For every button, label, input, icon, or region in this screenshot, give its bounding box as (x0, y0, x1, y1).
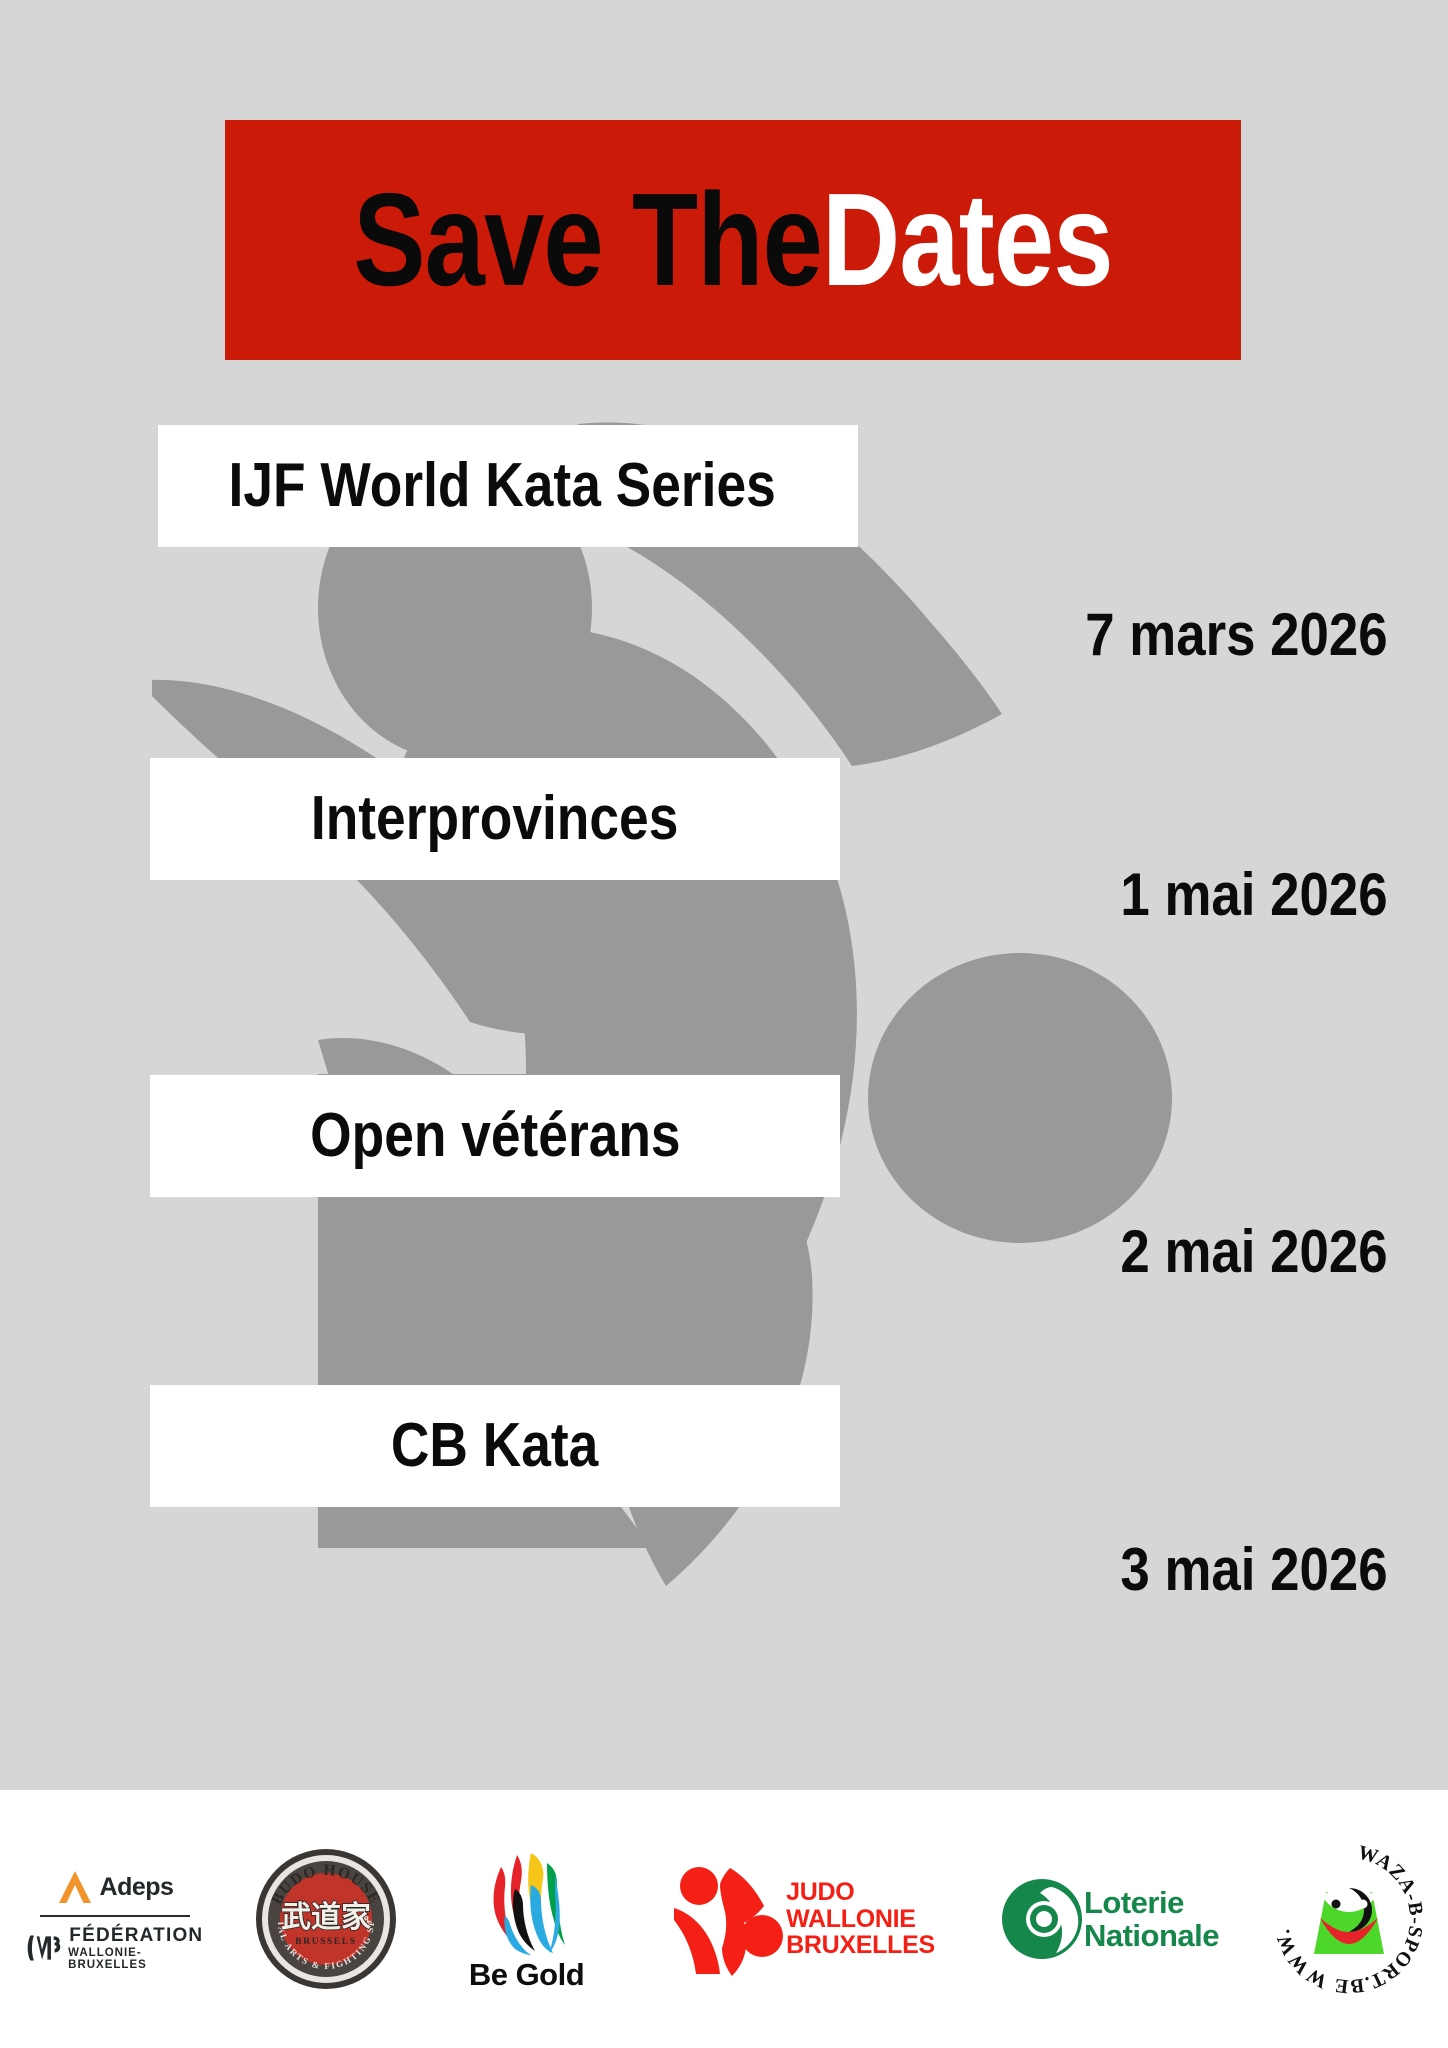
event-label-text: Interprovinces (311, 788, 678, 850)
event-label-box-ijf-world-kata-series: IJF World Kata Series (158, 425, 858, 547)
fwb-line-1: FÉDÉRATION (68, 1925, 204, 1947)
event-label-box-interprovinces: Interprovinces (150, 758, 840, 880)
sponsor-logo-band: Adeps FÉDÉRATION WALLONIE-BRUXELLES (0, 1790, 1448, 2048)
logo-adeps-federation-wallonie-bruxelles: Adeps FÉDÉRATION WALLONIE-BRUXELLES (25, 1844, 205, 1994)
budo-house-seal-icon: BUDO HOUSE MARTIAL ARTS & FIGHTING SPORT… (254, 1847, 398, 1991)
waza-b-sport-mask-icon: WAZA-B-SPORT.BE WWW. (1274, 1844, 1424, 1994)
banner-title-part-2: Dates (822, 174, 1113, 306)
banner-title-part-1: Save The (353, 174, 822, 306)
budo-subtext: BRUSSELS (295, 1937, 356, 1947)
event-label-box-open-veterans: Open vétérans (150, 1075, 840, 1197)
adeps-wordmark: Adeps (100, 1873, 174, 1902)
event-label-text: IJF World Kata Series (229, 455, 776, 517)
jwb-line-2: WALLONIE (786, 1906, 935, 1933)
logo-be-gold: Be Gold (447, 1839, 607, 1999)
judo-figure-icon (666, 1860, 786, 1978)
adeps-chevron-icon (56, 1867, 94, 1907)
logo-waza-b-sport: WAZA-B-SPORT.BE WWW. (1274, 1844, 1424, 1994)
be-gold-wordmark: Be Gold (469, 1957, 584, 1993)
event-date-ijf-world-kata-series: 7 mars 2026 (1086, 605, 1388, 665)
poster-canvas: Save The Dates IJF World Kata Series 7 m… (0, 0, 1448, 2048)
logo-divider (40, 1915, 190, 1917)
loterie-nationale-spiral-icon (1000, 1877, 1084, 1961)
event-label-text: CB Kata (391, 1415, 598, 1477)
logo-budo-house-brussels: BUDO HOUSE MARTIAL ARTS & FIGHTING SPORT… (254, 1847, 398, 1991)
jwb-line-1: JUDO (786, 1879, 935, 1906)
save-the-dates-banner: Save The Dates (225, 120, 1241, 360)
be-gold-flame-icon (471, 1845, 583, 1955)
event-date-interprovinces: 1 mai 2026 (1121, 865, 1388, 925)
fwb-line-2: WALLONIE-BRUXELLES (68, 1947, 204, 1971)
fwb-monogram-icon (25, 1928, 63, 1968)
event-date-cb-kata: 3 mai 2026 (1121, 1540, 1388, 1600)
event-date-open-veterans: 2 mai 2026 (1121, 1222, 1388, 1282)
logo-judo-wallonie-bruxelles: JUDO WALLONIE BRUXELLES (656, 1849, 946, 1989)
logo-loterie-nationale: Loterie Nationale (995, 1854, 1225, 1984)
event-label-box-cb-kata: CB Kata (150, 1385, 840, 1507)
budo-kanji: 武道家 (281, 1900, 371, 1935)
loterie-line-1: Loterie (1084, 1886, 1219, 1919)
loterie-line-2: Nationale (1084, 1919, 1219, 1952)
banner-title: Save The Dates (316, 120, 1149, 360)
event-label-text: Open vétérans (310, 1105, 680, 1167)
jwb-line-3: BRUXELLES (786, 1932, 935, 1959)
